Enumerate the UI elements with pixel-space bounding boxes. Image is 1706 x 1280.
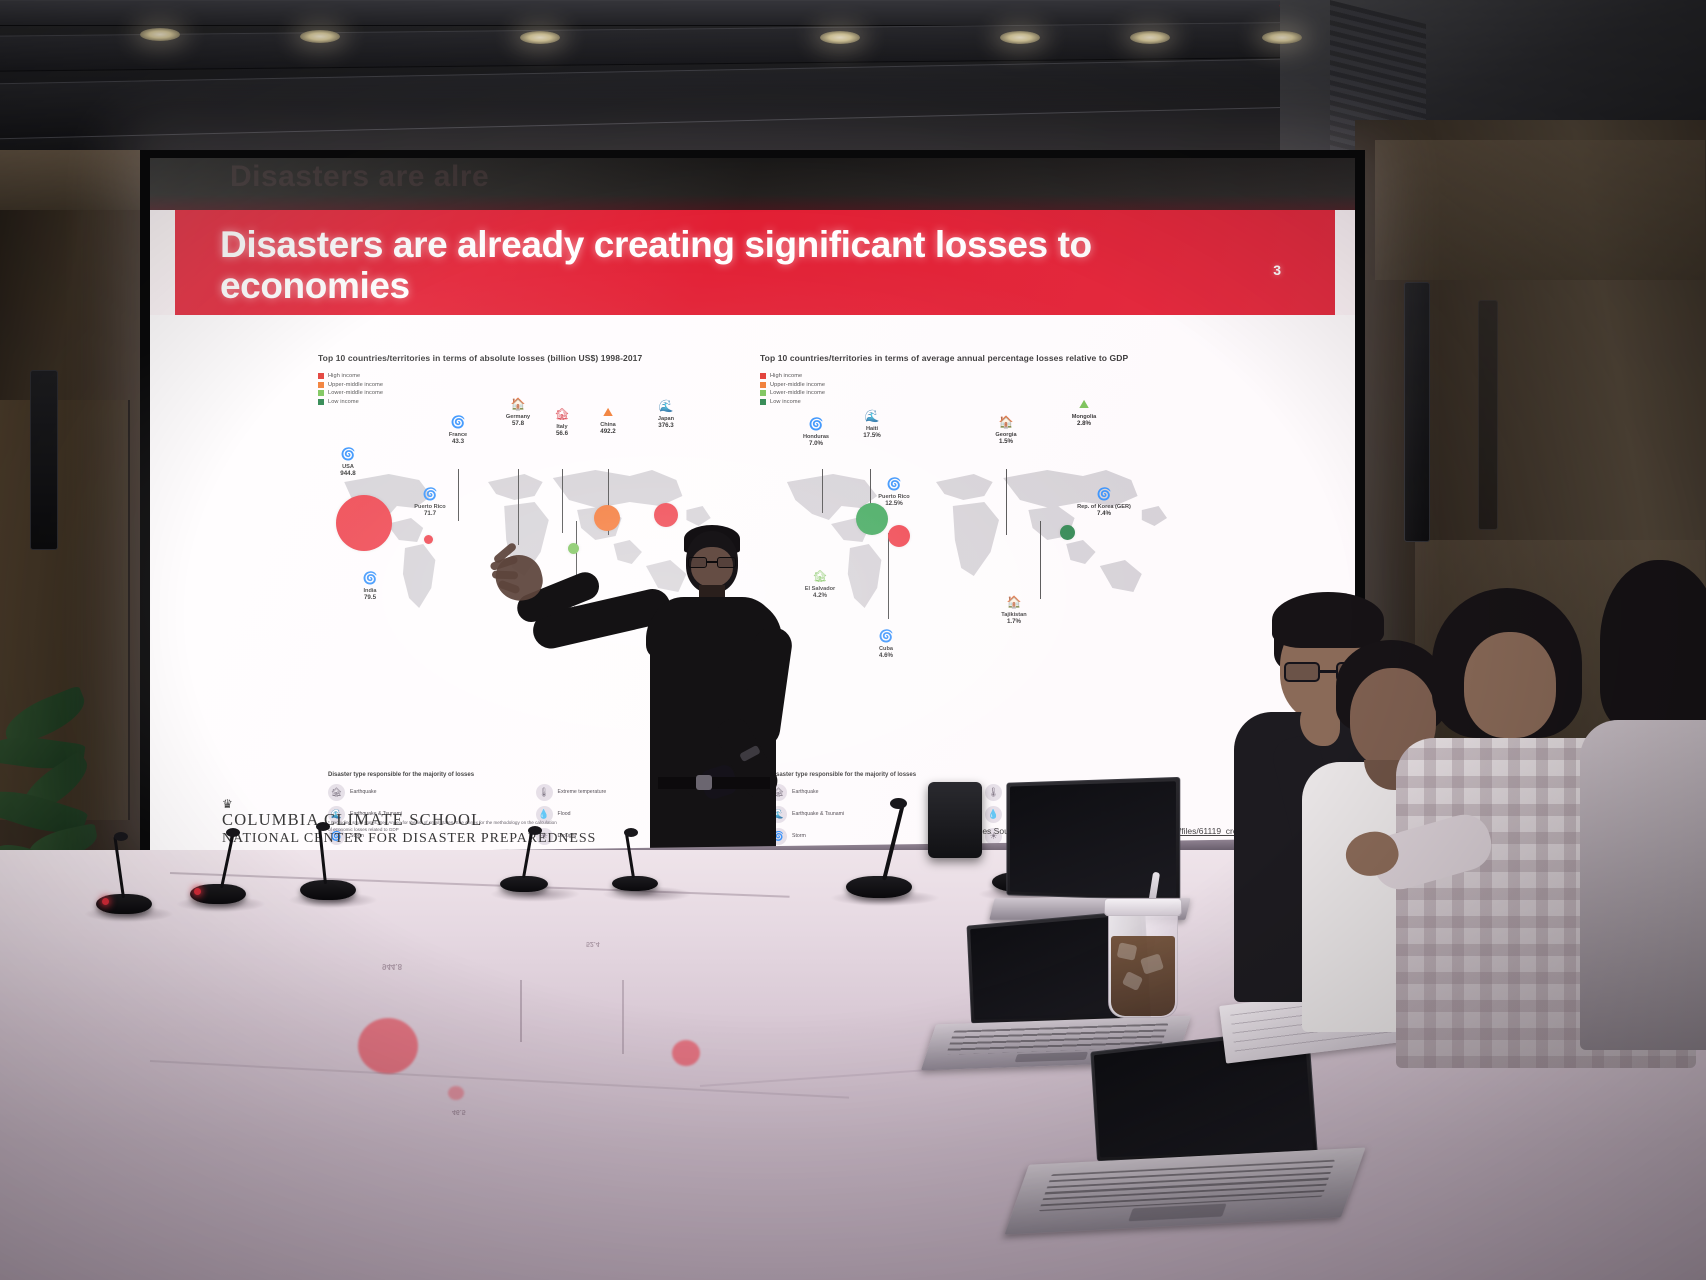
ceiling-light bbox=[1000, 31, 1040, 44]
map-marker-cuba: 🌀 Cuba 4.6% bbox=[862, 625, 910, 660]
disaster-type-label: Earthquake bbox=[350, 789, 377, 795]
cup-lid bbox=[1104, 898, 1182, 916]
ceiling-light bbox=[1130, 31, 1170, 44]
legend-label: Upper-middle income bbox=[328, 382, 383, 388]
storm-icon: 🌀 bbox=[1095, 483, 1114, 504]
chart-title-absolute: Top 10 countries/territories in terms of… bbox=[318, 353, 723, 364]
map-marker-japan: 🌊 Japan 376.3 bbox=[640, 395, 692, 430]
iced-coffee-cup[interactable] bbox=[1102, 878, 1184, 1023]
mic-led-indicator bbox=[194, 888, 201, 895]
storm-icon: 🌀 bbox=[361, 567, 380, 588]
map-marker-puerto-rico: 🌀 Puerto Rico 71.7 bbox=[406, 483, 454, 518]
map-marker-honduras: 🌀 Honduras 7.0% bbox=[790, 413, 842, 448]
table-reflection-text: 52.4 bbox=[586, 940, 600, 947]
legend-item: Upper-middle income bbox=[760, 382, 1180, 388]
legend-swatch-upper-middle-income bbox=[318, 382, 324, 388]
marker-value: 2.8% bbox=[1060, 420, 1108, 427]
storm-icon: 🌀 bbox=[877, 625, 896, 646]
legend-label: Upper-middle income bbox=[770, 382, 825, 388]
desk-speaker-puck bbox=[928, 782, 982, 858]
legend-swatch-lower-middle-income bbox=[760, 390, 766, 396]
income-legend-right: High income Upper-middle income Lower-mi… bbox=[760, 373, 1180, 405]
map-marker-china: ⛰ China 492.2 bbox=[584, 401, 632, 436]
leader-line bbox=[1006, 469, 1007, 535]
map-marker-haiti: 🌊 Haiti 17.5% bbox=[848, 405, 896, 440]
glasses-icon bbox=[688, 557, 736, 568]
belt-buckle bbox=[696, 775, 712, 790]
flood-icon: 🏠 bbox=[997, 411, 1016, 432]
slide-title: Disasters are already creating significa… bbox=[220, 224, 1180, 307]
storm-icon: 🌀 bbox=[449, 411, 468, 432]
legend-label: High income bbox=[770, 373, 802, 379]
legend-label: Lower-middle income bbox=[328, 390, 383, 396]
map-marker-mongolia: ⛰ Mongolia 2.8% bbox=[1060, 393, 1108, 428]
marker-value: 376.3 bbox=[640, 422, 692, 429]
bubble-korea bbox=[1060, 525, 1075, 540]
bubble-puerto-rico-right bbox=[888, 525, 910, 547]
ceiling-light bbox=[140, 28, 180, 41]
legend-swatch-lower-middle-income bbox=[318, 390, 324, 396]
legend-item: Upper-middle income bbox=[318, 382, 723, 388]
map-marker-mexico: 🌀 India 79.5 bbox=[346, 567, 394, 602]
marker-value: 17.5% bbox=[848, 432, 896, 439]
marker-value: 43.3 bbox=[434, 438, 482, 445]
mic-led-indicator bbox=[102, 898, 109, 905]
presenter-belt bbox=[658, 777, 770, 789]
legend-swatch-upper-middle-income bbox=[760, 382, 766, 388]
map-marker-italy: 🏚 Italy 56.6 bbox=[538, 403, 586, 438]
tsunami-icon: 🌊 bbox=[863, 405, 882, 426]
wall-speaker-left bbox=[30, 370, 58, 550]
marker-value: 7.0% bbox=[790, 440, 842, 447]
screen-top-band: Disasters are alre bbox=[150, 158, 1355, 210]
flood-icon: 🏠 bbox=[509, 393, 528, 414]
table-reflection-bubble bbox=[448, 1086, 464, 1100]
marker-value: 4.6% bbox=[862, 652, 910, 659]
map-marker-germany: 🏠 Germany 57.8 bbox=[494, 393, 542, 428]
marker-value: 492.2 bbox=[584, 428, 632, 435]
leader-line bbox=[888, 533, 889, 619]
presenter-silhouette bbox=[490, 515, 850, 865]
legend-label: Low income bbox=[328, 399, 359, 405]
marker-value: 57.8 bbox=[494, 420, 542, 427]
legend-swatch-low-income bbox=[760, 399, 766, 405]
ceiling-light bbox=[300, 30, 340, 43]
wall-speaker-right-2 bbox=[1478, 300, 1498, 530]
marker-value: 56.6 bbox=[538, 430, 586, 437]
legend-label: Low income bbox=[770, 399, 801, 405]
drought-icon: ⛰ bbox=[599, 401, 618, 422]
marker-value: 1.5% bbox=[982, 438, 1030, 445]
legend-item: Lower-middle income bbox=[760, 390, 1180, 396]
legend-item: High income bbox=[318, 373, 723, 379]
legend-label: Lower-middle income bbox=[770, 390, 825, 396]
marker-value: 7.4% bbox=[1076, 510, 1132, 517]
table-reflection-line bbox=[520, 980, 522, 1042]
drought-icon: ⛰ bbox=[1075, 393, 1094, 414]
marker-value: 944.8 bbox=[324, 470, 372, 477]
ceiling-light bbox=[520, 31, 560, 44]
table-reflection-line bbox=[622, 980, 624, 1054]
marker-value: 79.5 bbox=[346, 594, 394, 601]
tsunami-icon: 🌊 bbox=[657, 395, 676, 416]
conference-room-scene: Disasters are alre Disasters are already… bbox=[0, 0, 1706, 1280]
chart-title-relative: Top 10 countries/territories in terms of… bbox=[760, 353, 1180, 364]
marker-value: 12.5% bbox=[870, 500, 918, 507]
marker-value: 71.7 bbox=[406, 510, 454, 517]
bubble-haiti bbox=[856, 503, 888, 535]
legend-swatch-low-income bbox=[318, 399, 324, 405]
slide-number: 3 bbox=[1273, 262, 1281, 278]
map-marker-puerto-rico-right: 🌀 Puerto Rico 12.5% bbox=[870, 473, 918, 508]
bubble-puerto-rico bbox=[424, 535, 433, 544]
ceiling-light bbox=[1262, 31, 1302, 44]
storm-icon: 🌀 bbox=[885, 473, 904, 494]
map-marker-korea: 🌀 Rep. of Korea (GER) 7.4% bbox=[1076, 483, 1132, 518]
thermometer-icon: 🌡 bbox=[985, 784, 1002, 801]
table-reflection-bubble bbox=[672, 1040, 700, 1066]
storm-icon: 🌀 bbox=[421, 483, 440, 504]
legend-item: Low income bbox=[760, 399, 1180, 405]
map-marker-usa: 🌀 USA 944.8 bbox=[324, 443, 372, 478]
legend-swatch-high-income bbox=[760, 373, 766, 379]
ceiling-light bbox=[820, 31, 860, 44]
storm-icon: 🌀 bbox=[807, 413, 826, 434]
storm-icon: 🌀 bbox=[339, 443, 358, 464]
bubble-usa bbox=[336, 495, 392, 551]
marker-value: 1.7% bbox=[986, 618, 1042, 625]
leader-line bbox=[458, 469, 459, 521]
earthquake-icon: 🏚 bbox=[553, 403, 572, 424]
table-reflection-bubble bbox=[358, 1018, 418, 1074]
map-marker-tajikistan: 🏠 Tajikistan 1.7% bbox=[986, 591, 1042, 626]
map-marker-france: 🌀 France 43.3 bbox=[434, 411, 482, 446]
slide-title-bar: Disasters are already creating significa… bbox=[175, 210, 1335, 315]
table-reflection-text: 944.8 bbox=[382, 962, 402, 971]
legend-swatch-high-income bbox=[318, 373, 324, 379]
leader-line bbox=[1040, 521, 1041, 599]
table-reflection-text: 46.5 bbox=[452, 1108, 466, 1115]
legend-label: High income bbox=[328, 373, 360, 379]
flood-icon: 🏠 bbox=[1005, 591, 1024, 612]
legend-item: High income bbox=[760, 373, 1180, 379]
leader-line bbox=[822, 469, 823, 513]
ghost-title-text: Disasters are alre bbox=[230, 160, 489, 194]
wall-speaker-right bbox=[1404, 282, 1430, 542]
map-marker-georgia: 🏠 Georgia 1.5% bbox=[982, 411, 1030, 446]
